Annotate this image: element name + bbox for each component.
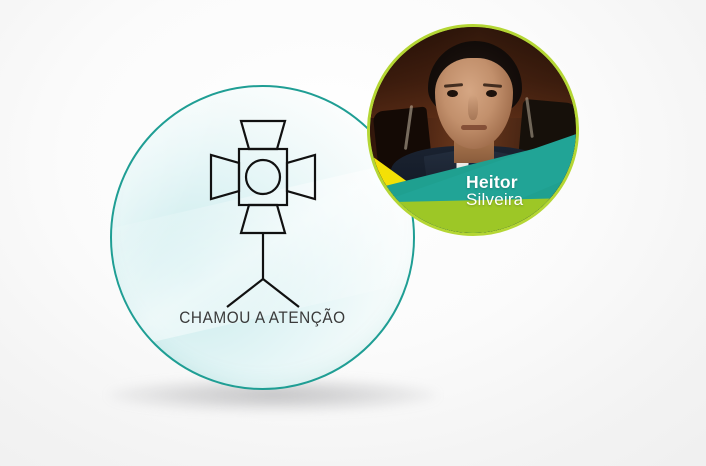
person-portrait-badge[interactable]: Heitor Silveira <box>367 24 579 236</box>
portrait-photo: Heitor Silveira <box>370 27 576 233</box>
badge-caption: CHAMOU A ATENÇÃO <box>123 309 403 328</box>
mouth <box>461 125 488 130</box>
nose <box>468 95 478 120</box>
person-name: Heitor Silveira <box>466 173 574 209</box>
person-last-name: Silveira <box>466 191 574 209</box>
person-first-name: Heitor <box>466 173 574 191</box>
eye-right <box>486 90 497 97</box>
spotlight-icon <box>197 111 329 311</box>
eye-left <box>447 90 458 97</box>
